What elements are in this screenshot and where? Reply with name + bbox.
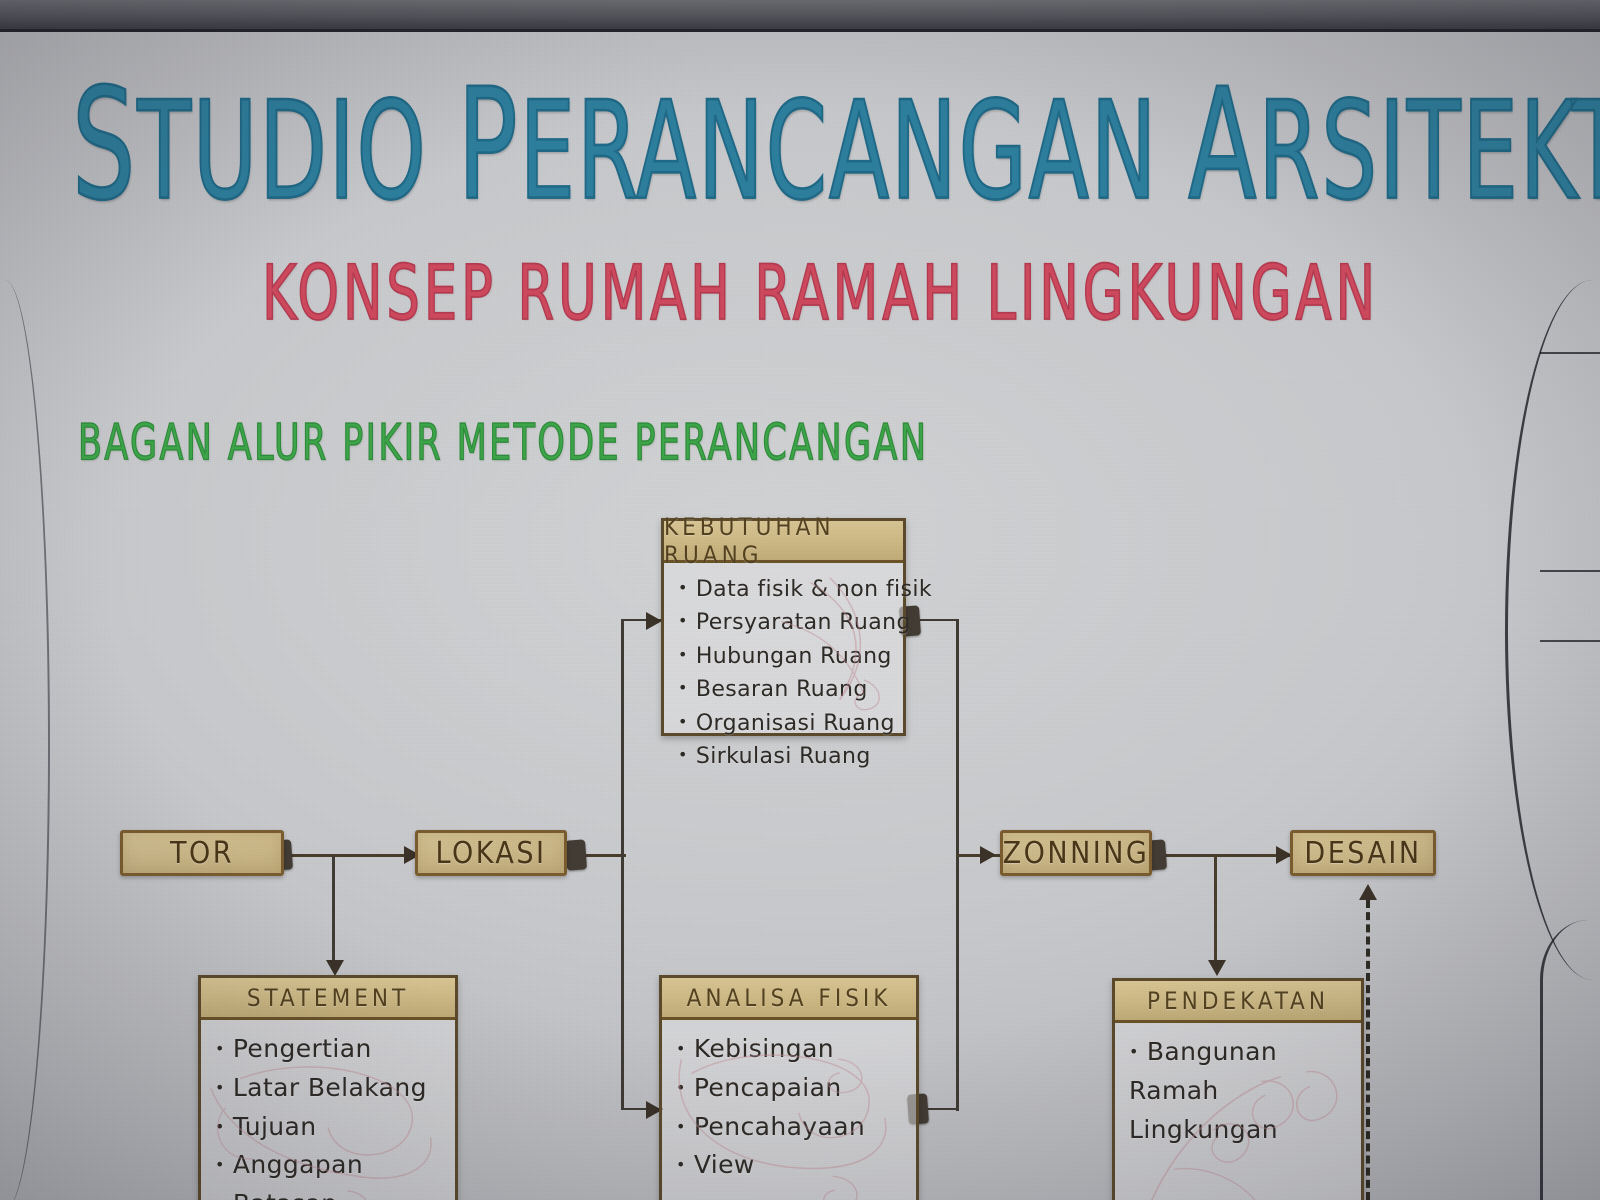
panel-analisa-fisik-header: ANALISA FISIK	[662, 978, 916, 1020]
node-zonning-label: ZONNING	[1003, 836, 1150, 871]
node-lokasi[interactable]: LOKASI	[415, 830, 567, 876]
list-item: Pengertian	[215, 1030, 447, 1069]
board-top-edge	[0, 0, 1600, 30]
list-item: Data fisik & non fisik	[678, 573, 895, 606]
panel-analisa-fisik[interactable]: ANALISA FISIK Kebisingan Pencapaian Penc…	[659, 975, 919, 1200]
panel-kebutuhan-ruang-list: Data fisik & non fisik Persyaratan Ruang…	[664, 563, 903, 774]
list-item: Batasan	[215, 1185, 447, 1200]
board-top-line	[0, 29, 1600, 32]
feedback-dashed-line	[1366, 900, 1370, 1200]
title-cap-p: P	[457, 55, 519, 234]
node-desain-label: DESAIN	[1304, 836, 1421, 871]
node-tor-label: TOR	[170, 836, 234, 871]
paper-edge-tick	[1540, 352, 1600, 354]
title-cap-s: S	[72, 55, 137, 234]
title-rest-arsitektur: RSITEKTUR	[1258, 72, 1600, 231]
list-item: Anggapan	[215, 1146, 447, 1185]
list-item: View	[676, 1146, 908, 1185]
list-item: Kebisingan	[676, 1030, 908, 1069]
paper-edge-right-lower	[1540, 920, 1600, 1200]
list-item: Bangunan Ramah Lingkungan	[1129, 1033, 1329, 1149]
panel-pendekatan[interactable]: PENDEKATAN Bangunan Ramah Lingkungan	[1112, 978, 1364, 1200]
title-rest-perancangan: ERANCANGAN	[519, 72, 1188, 231]
list-item: Tujuan	[215, 1108, 447, 1147]
paper-edge-right	[1505, 280, 1600, 980]
node-tor[interactable]: TOR	[120, 830, 284, 876]
panel-analisa-fisik-title: ANALISA FISIK	[687, 984, 892, 1012]
panel-pendekatan-header: PENDEKATAN	[1115, 981, 1361, 1023]
panel-kebutuhan-ruang[interactable]: KEBUTUHAN RUANG Data fisik & non fisik P…	[661, 518, 906, 736]
connector-tor-lokasi	[282, 854, 420, 857]
paper-edge-left	[0, 280, 50, 1200]
panel-analisa-fisik-list: Kebisingan Pencapaian Pencahayaan View	[662, 1020, 916, 1185]
panel-pendekatan-title: PENDEKATAN	[1147, 987, 1329, 1015]
node-lokasi-label: LOKASI	[436, 836, 547, 871]
arrow-into-zonning	[980, 846, 996, 864]
arrow-into-pendekatan	[1208, 960, 1226, 976]
paper-edge-tick	[1540, 640, 1600, 642]
arrow-into-statement	[326, 960, 344, 976]
list-item: Sirkulasi Ruang	[678, 740, 895, 773]
page-title: STUDIO PERANCANGAN ARSITEKTUR2	[72, 52, 1444, 247]
poster-canvas: STUDIO PERANCANGAN ARSITEKTUR2 KONSEP RU…	[0, 0, 1600, 1200]
poster-subtitle: KONSEP RUMAH RAMAH LINGKUNGAN	[262, 248, 1379, 337]
panel-kebutuhan-ruang-header: KEBUTUHAN RUANG	[664, 521, 903, 563]
paper-edge-tick	[1540, 570, 1600, 572]
panel-statement-list: Pengertian Latar Belakang Tujuan Anggapa…	[201, 1020, 455, 1200]
connector-zonning-desain	[1158, 854, 1292, 857]
panel-statement[interactable]: STATEMENT Pengertian Latar Belakang Tuju…	[198, 975, 458, 1200]
list-item: Latar Belakang	[215, 1069, 447, 1108]
list-item: Organisasi Ruang	[678, 707, 895, 740]
connector-kebutuhan-righttrunk	[915, 619, 959, 621]
panel-statement-title: STATEMENT	[247, 984, 409, 1012]
list-item: Persyaratan Ruang	[678, 606, 895, 639]
list-item: Hubungan Ruang	[678, 640, 895, 673]
list-item: Besaran Ruang	[678, 673, 895, 706]
list-item: Pencapaian	[676, 1069, 908, 1108]
connector-knob-lokasi	[565, 839, 587, 870]
arrow-feedback-into-desain	[1359, 884, 1377, 900]
node-zonning[interactable]: ZONNING	[1000, 830, 1152, 876]
connector-zonning-pendekatan	[1214, 856, 1217, 970]
trunk-left-vertical	[621, 620, 624, 1110]
list-item: Pencahayaan	[676, 1108, 908, 1147]
section-heading: BAGAN ALUR PIKIR METODE PERANCANGAN	[78, 415, 928, 472]
connector-tor-statement	[332, 856, 335, 970]
panel-statement-header: STATEMENT	[201, 978, 455, 1020]
node-desain[interactable]: DESAIN	[1290, 830, 1436, 876]
panel-kebutuhan-ruang-title: KEBUTUHAN RUANG	[664, 513, 903, 569]
title-rest-studio: TUDIO	[137, 72, 457, 231]
title-cap-a: A	[1188, 55, 1258, 234]
arrow-into-kebutuhan-ruang	[646, 612, 662, 630]
trunk-right-vertical	[956, 619, 959, 1111]
panel-pendekatan-list: Bangunan Ramah Lingkungan	[1115, 1023, 1361, 1149]
